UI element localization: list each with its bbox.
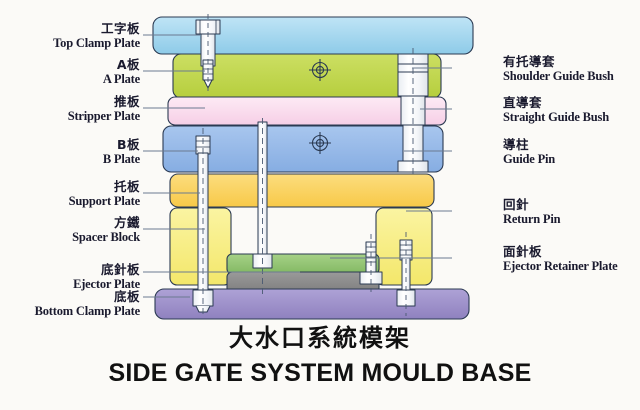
label-guide-pin-en: Guide Pin	[503, 152, 555, 166]
label-straight-guide-bush: 直導套 Straight Guide Bush	[503, 96, 609, 124]
label-a-plate: A板 A Plate	[12, 58, 140, 86]
label-return-pin-cn: 回針	[503, 198, 560, 212]
label-spacer-block-cn: 方鐵	[12, 216, 140, 230]
label-spacer-block-en: Spacer Block	[12, 230, 140, 244]
label-b-plate: B板 B Plate	[12, 138, 140, 166]
label-return-pin: 回針 Return Pin	[503, 198, 560, 226]
mould-base-diagram: 工字板 Top Clamp Plate A板 A Plate 推板 Stripp…	[0, 0, 640, 410]
label-ejector-retainer-plate-en: Ejector Retainer Plate	[503, 259, 618, 273]
label-support-plate-en: Support Plate	[12, 194, 140, 208]
label-guide-pin: 導柱 Guide Pin	[503, 138, 555, 166]
diagram-title-en: SIDE GATE SYSTEM MOULD BASE	[0, 359, 640, 388]
label-return-pin-en: Return Pin	[503, 212, 560, 226]
label-bottom-clamp-plate-cn: 底板	[12, 290, 140, 304]
plate-ejector-retainer-plate	[227, 254, 379, 274]
label-support-plate: 托板 Support Plate	[12, 180, 140, 208]
label-ejector-retainer-plate-cn: 面針板	[503, 245, 618, 259]
label-top-clamp-plate-cn: 工字板	[12, 22, 140, 36]
label-bottom-clamp-plate-en: Bottom Clamp Plate	[12, 304, 140, 318]
label-bottom-clamp-plate: 底板 Bottom Clamp Plate	[12, 290, 140, 318]
label-shoulder-guide-bush-cn: 有托導套	[503, 55, 614, 69]
label-shoulder-guide-bush: 有托導套 Shoulder Guide Bush	[503, 55, 614, 83]
label-top-clamp-plate-en: Top Clamp Plate	[12, 36, 140, 50]
label-a-plate-en: A Plate	[12, 72, 140, 86]
label-ejector-plate: 底針板 Ejector Plate	[12, 263, 140, 291]
label-spacer-block: 方鐵 Spacer Block	[12, 216, 140, 244]
label-straight-guide-bush-en: Straight Guide Bush	[503, 110, 609, 124]
label-ejector-retainer-plate: 面針板 Ejector Retainer Plate	[503, 245, 618, 273]
label-stripper-plate: 推板 Stripper Plate	[12, 95, 140, 123]
label-top-clamp-plate: 工字板 Top Clamp Plate	[12, 22, 140, 50]
diagram-title-cn: 大水口系統模架	[0, 318, 640, 353]
label-guide-pin-cn: 導柱	[503, 138, 555, 152]
label-straight-guide-bush-cn: 直導套	[503, 96, 609, 110]
label-shoulder-guide-bush-en: Shoulder Guide Bush	[503, 69, 614, 83]
label-b-plate-cn: B板	[12, 138, 140, 152]
label-stripper-plate-cn: 推板	[12, 95, 140, 109]
label-a-plate-cn: A板	[12, 58, 140, 72]
diagram-title: 大水口系統模架 SIDE GATE SYSTEM MOULD BASE	[0, 318, 640, 388]
label-ejector-plate-cn: 底針板	[12, 263, 140, 277]
plate-support-plate	[170, 174, 434, 207]
label-stripper-plate-en: Stripper Plate	[12, 109, 140, 123]
label-support-plate-cn: 托板	[12, 180, 140, 194]
label-b-plate-en: B Plate	[12, 152, 140, 166]
